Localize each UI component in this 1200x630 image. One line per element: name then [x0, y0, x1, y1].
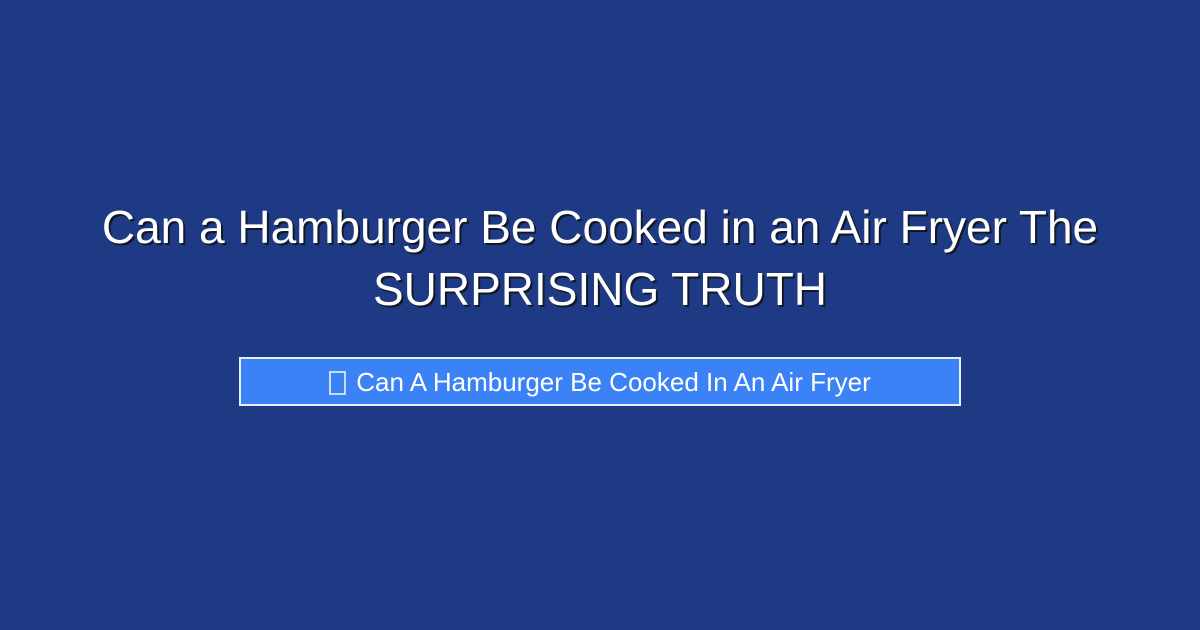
cta-row: Can A Hamburger Be Cooked In An Air Frye… — [0, 357, 1200, 406]
page-title: Can a Hamburger Be Cooked in an Air Frye… — [0, 196, 1200, 320]
og-image-card: Can a Hamburger Be Cooked in an Air Frye… — [0, 0, 1200, 630]
cta-button-label: Can A Hamburger Be Cooked In An Air Frye… — [356, 369, 870, 395]
missing-glyph-box-icon — [329, 371, 346, 395]
cta-button[interactable]: Can A Hamburger Be Cooked In An Air Frye… — [239, 357, 961, 406]
